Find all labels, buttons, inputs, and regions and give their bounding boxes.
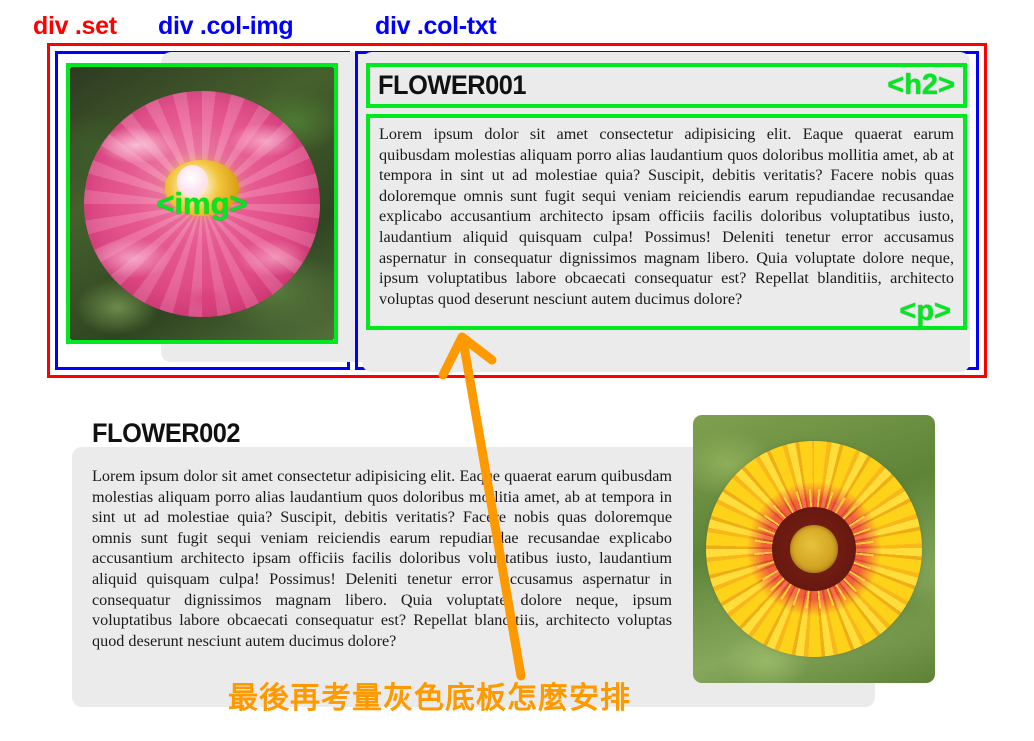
flower002-body-wrap: Lorem ipsum dolor sit amet consectetur a…	[92, 466, 672, 651]
p-tag-overlay: <p>	[899, 295, 951, 328]
label-div-col-txt: div .col-txt	[375, 8, 496, 44]
p-element-outline: Lorem ipsum dolor sit amet consectetur a…	[366, 114, 967, 330]
label-div-col-img: div .col-img	[158, 8, 293, 44]
peony-bloom	[84, 91, 320, 317]
flower001-photo	[70, 67, 334, 340]
flower001-body-text: Lorem ipsum dolor sit amet consectetur a…	[379, 124, 954, 309]
flower002-body-text: Lorem ipsum dolor sit amet consectetur a…	[92, 466, 672, 651]
blanket-flower-bloom	[706, 441, 922, 657]
img-element-outline: <img>	[66, 63, 338, 344]
label-div-set: div .set	[33, 8, 117, 44]
flower002-heading: FLOWER002	[92, 418, 240, 449]
h2-tag-overlay: <h2>	[887, 69, 955, 102]
set-inner-row: <img> FLOWER001 <h2> Lorem ipsum dolor s…	[50, 46, 984, 375]
chinese-annotation-note: 最後再考量灰色底板怎麼安排	[228, 673, 631, 717]
div-col-txt-outline: FLOWER001 <h2> Lorem ipsum dolor sit ame…	[355, 51, 979, 370]
peony-stamen-center	[165, 160, 239, 216]
div-col-img-outline: <img>	[55, 51, 350, 370]
blanket-flower-disc	[772, 507, 856, 591]
annotation-label-row: div .set div .col-img div .col-txt	[0, 8, 1034, 44]
div-set-outline: <img> FLOWER001 <h2> Lorem ipsum dolor s…	[47, 43, 987, 378]
h2-element-outline: FLOWER001 <h2>	[366, 63, 967, 108]
flower001-heading: FLOWER001	[378, 70, 526, 101]
flower002-photo	[693, 415, 935, 683]
